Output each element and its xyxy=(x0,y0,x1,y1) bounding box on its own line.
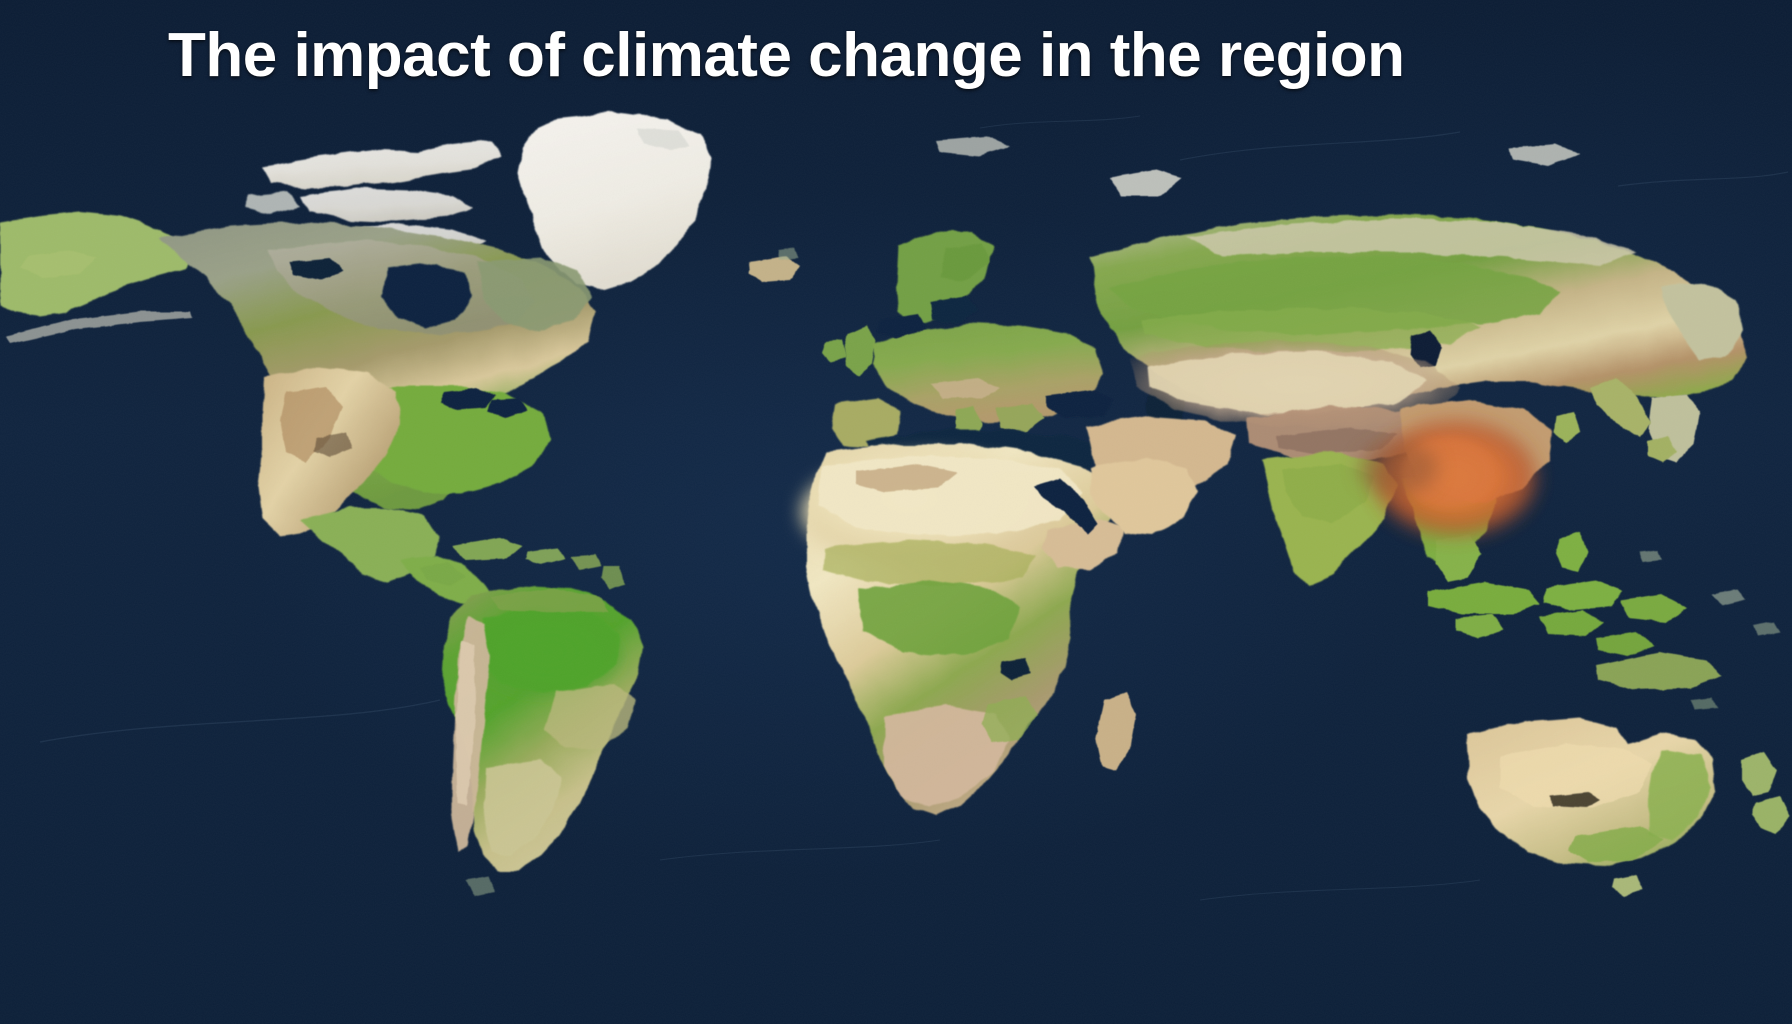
region-australia[interactable] xyxy=(1466,718,1790,896)
region-south-america[interactable] xyxy=(442,586,642,870)
region-africa[interactable] xyxy=(802,444,1136,816)
world-map[interactable] xyxy=(0,0,1792,1024)
screenshot-root: The impact of climate change in the regi… xyxy=(0,0,1792,1024)
region-north-america[interactable] xyxy=(0,212,624,614)
